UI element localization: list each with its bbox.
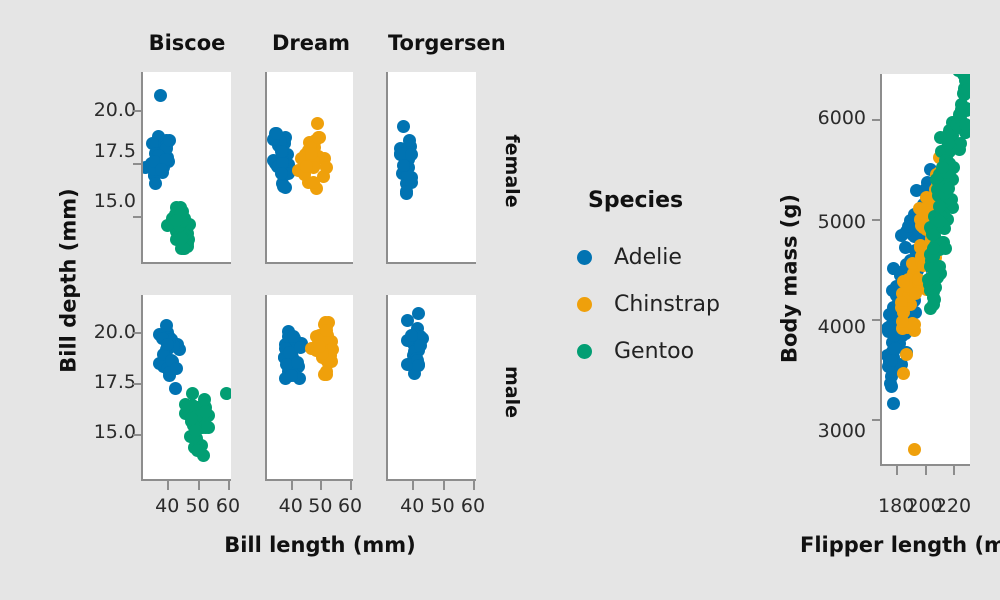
facet-panel-biscoe-female [143, 72, 231, 262]
data-point [175, 232, 188, 245]
legend-key-adelie [577, 250, 592, 265]
left-ytick-row2-17_5: 17.5 [60, 373, 136, 392]
left-ytick-row1-15: 15.0 [60, 192, 136, 211]
facet-panel-dream-female [267, 72, 353, 262]
x-axis-tick [228, 481, 230, 490]
data-point [277, 180, 290, 193]
left-xtick-label: 60 [207, 497, 249, 516]
facet-strip-male: male [501, 342, 523, 442]
panel-left-spine [386, 72, 388, 264]
data-point [149, 177, 162, 190]
data-point [312, 131, 325, 144]
legend-key-gentoo [577, 344, 592, 359]
data-point [412, 359, 425, 372]
x-axis-tick [443, 481, 445, 490]
facet-panel-torgersen-male [388, 295, 476, 479]
data-point [900, 348, 913, 361]
data-point [412, 307, 425, 320]
data-point [170, 214, 183, 227]
data-point [170, 362, 183, 375]
data-point [300, 160, 313, 173]
data-point [939, 242, 952, 255]
x-axis-tick [167, 481, 169, 490]
data-point [936, 161, 949, 174]
right-ytick-6000: 6000 [790, 109, 866, 128]
legend-item-chinstrap[interactable]: Chinstrap [577, 292, 720, 317]
panel-left-spine [265, 72, 267, 264]
data-point [909, 287, 922, 300]
panel-left-spine [386, 295, 388, 481]
panel-bottom-spine [265, 262, 353, 264]
y-axis-tick [872, 219, 881, 221]
facet-strip-dream: Dream [267, 33, 355, 54]
y-axis-tick [872, 119, 881, 121]
left-ytick-row1-20: 20.0 [60, 101, 136, 120]
data-point [287, 330, 300, 343]
x-axis-tick [291, 481, 293, 490]
left-ytick-row2-15: 15.0 [60, 423, 136, 442]
data-point [270, 127, 283, 140]
data-point [961, 83, 970, 96]
panel-left-spine [141, 295, 143, 481]
data-point [169, 382, 182, 395]
data-point [959, 118, 970, 131]
left-x-axis-title: Bill length (mm) [180, 535, 460, 556]
body-mass-panel [882, 74, 970, 464]
data-point [908, 443, 921, 456]
y-axis-tick [872, 419, 881, 421]
right-ytick-5000: 5000 [790, 213, 866, 232]
data-point [199, 405, 212, 418]
x-axis-tick [473, 481, 475, 490]
x-axis-tick [896, 466, 898, 475]
x-axis-tick [320, 481, 322, 490]
right-ytick-3000: 3000 [790, 422, 866, 441]
data-point [311, 117, 324, 130]
x-axis-tick [412, 481, 414, 490]
data-point [405, 329, 418, 342]
legend-label-chinstrap: Chinstrap [614, 292, 720, 317]
data-point [185, 412, 198, 425]
x-axis-tick [953, 466, 955, 475]
facet-strip-female: female [501, 111, 523, 231]
panel-bottom-spine [265, 479, 353, 481]
x-axis-tick [925, 466, 927, 475]
right-xtick-label: 220 [927, 497, 979, 516]
data-point [927, 242, 940, 255]
data-point [160, 319, 173, 332]
panel-bottom-spine [386, 479, 476, 481]
data-point [163, 134, 176, 147]
facet-strip-torgersen: Torgersen [388, 33, 498, 54]
left-xtick-label: 60 [452, 497, 494, 516]
data-point [884, 377, 897, 390]
data-point [414, 339, 427, 352]
facet-panel-biscoe-male [143, 295, 231, 479]
panel-bottom-spine [141, 262, 231, 264]
data-point [397, 120, 410, 133]
legend-item-gentoo[interactable]: Gentoo [577, 339, 694, 364]
legend-item-adelie[interactable]: Adelie [577, 245, 682, 270]
panel-left-spine [880, 74, 882, 466]
x-axis-tick [350, 481, 352, 490]
facet-panel-dream-male [267, 295, 353, 479]
data-point [403, 134, 416, 147]
left-ytick-row1-17_5: 17.5 [60, 142, 136, 161]
panel-left-spine [265, 295, 267, 481]
data-point [942, 182, 955, 195]
facet-panel-torgersen-female [388, 72, 476, 262]
data-point [313, 340, 326, 353]
legend-title: Species [588, 188, 683, 213]
data-point [220, 387, 231, 400]
legend-key-chinstrap [577, 297, 592, 312]
data-point [191, 444, 204, 457]
left-xtick-label: 60 [329, 497, 371, 516]
legend-label-gentoo: Gentoo [614, 339, 694, 364]
data-point [942, 137, 955, 150]
panel-left-spine [141, 72, 143, 264]
right-x-axis-title: Flipper length (mm) [800, 535, 1000, 556]
data-point [887, 397, 900, 410]
y-axis-tick [872, 319, 881, 321]
x-axis-tick [198, 481, 200, 490]
panel-bottom-spine [386, 262, 476, 264]
data-point [897, 367, 910, 380]
legend-label-adelie: Adelie [614, 245, 682, 270]
data-point [320, 365, 333, 378]
data-point [305, 147, 318, 160]
right-ytick-4000: 4000 [790, 318, 866, 337]
data-point [320, 161, 333, 174]
data-point [154, 89, 167, 102]
left-ytick-row2-20: 20.0 [60, 323, 136, 342]
data-point [285, 369, 298, 382]
panel-bottom-spine [141, 479, 231, 481]
right-y-axis-title: Body mass (g) [780, 164, 801, 394]
facet-strip-biscoe: Biscoe [143, 33, 231, 54]
data-point [897, 275, 910, 288]
